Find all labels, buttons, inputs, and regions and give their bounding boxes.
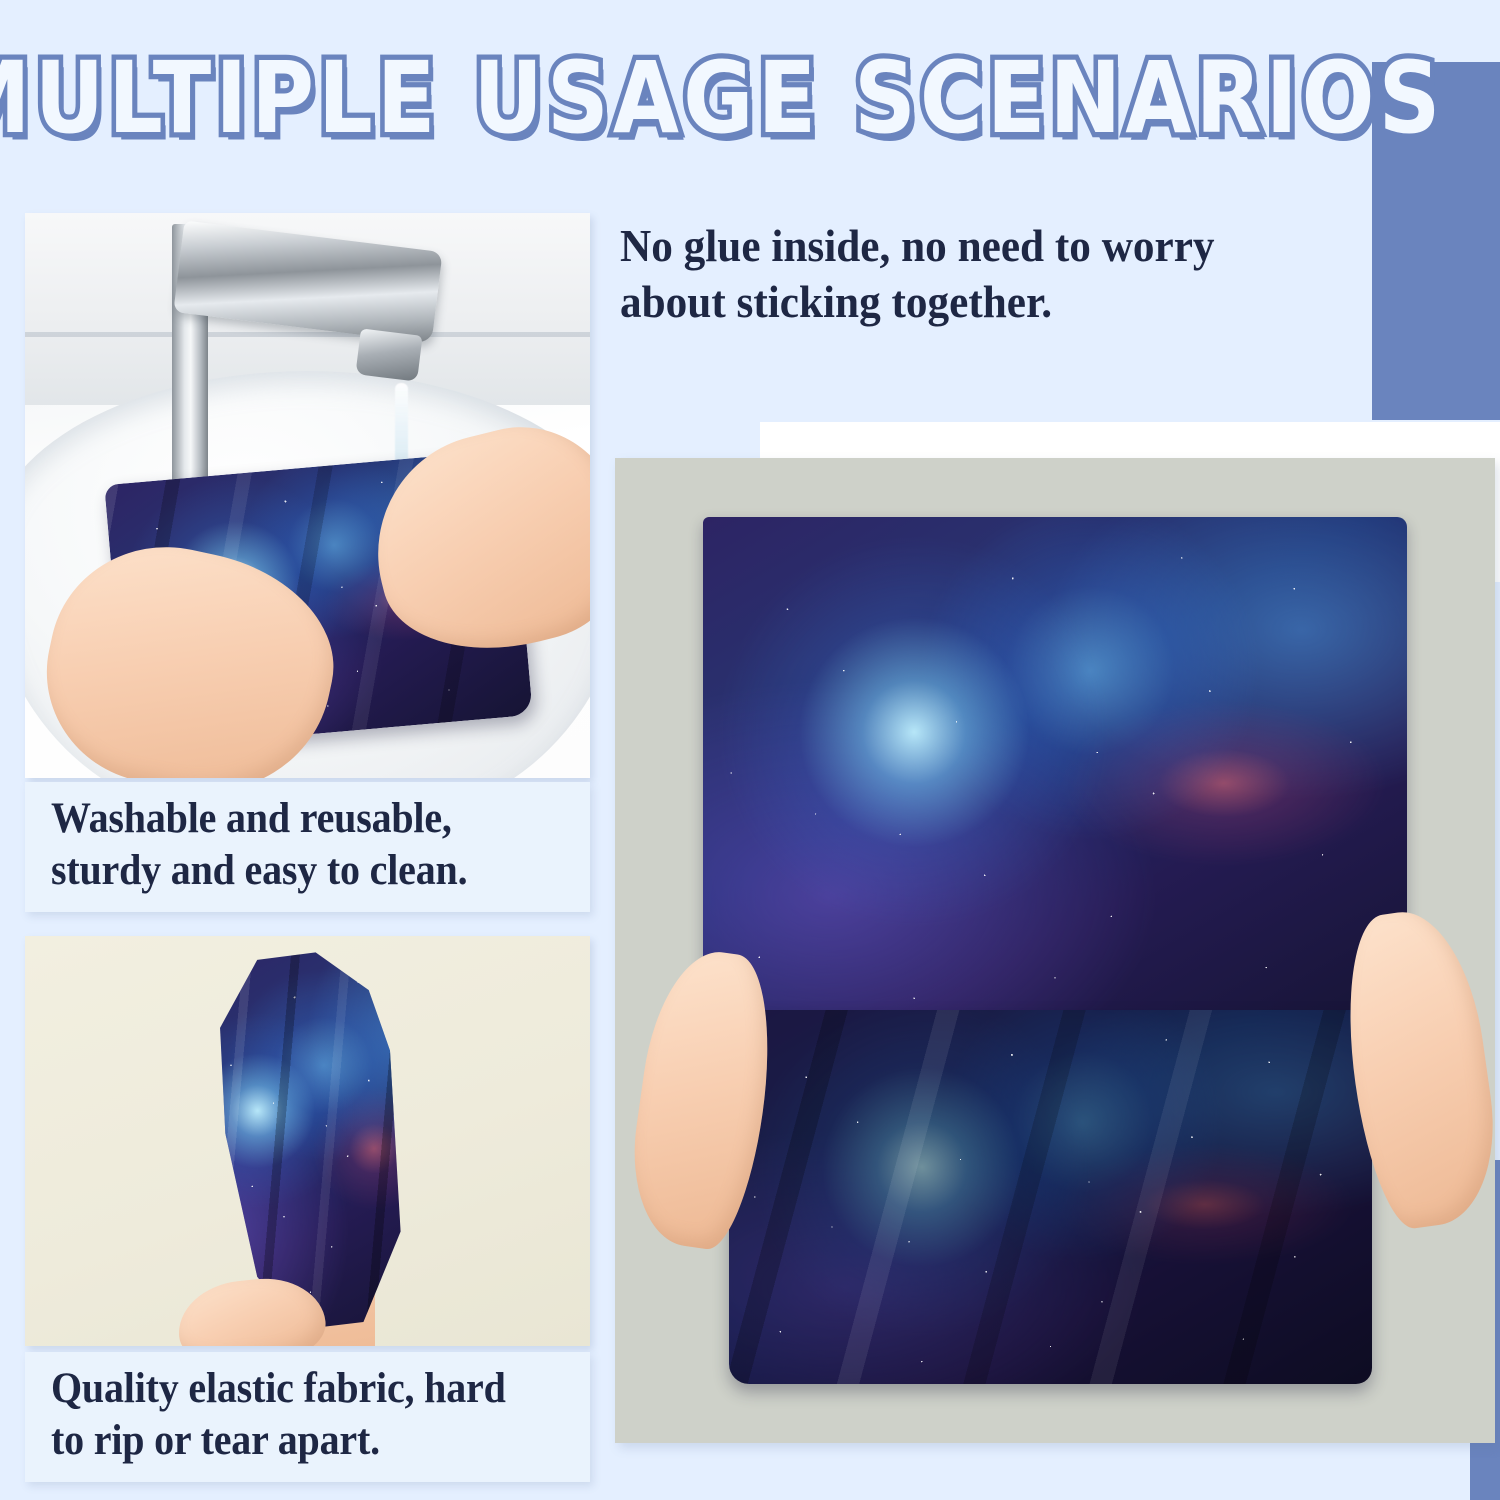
photo-washing-in-sink <box>25 213 590 778</box>
feature-no-glue: No glue inside, no need to worry about s… <box>620 218 1365 330</box>
faucet-tip <box>356 328 423 381</box>
galaxy-cover-lower <box>729 1010 1371 1384</box>
caption-elastic: Quality elastic fabric, hard to rip or t… <box>25 1352 590 1482</box>
fabric-folds <box>729 1010 1371 1384</box>
headline-container: MULTIPLE USAGE SCENARIOS <box>0 38 1390 158</box>
photo-stretch-test <box>25 936 590 1346</box>
caption-elastic-text: Quality elastic fabric, hard to rip or t… <box>51 1363 528 1466</box>
galaxy-cover-upper <box>703 517 1407 1029</box>
caption-washable: Washable and reusable, sturdy and easy t… <box>25 782 590 912</box>
feature-no-glue-text: No glue inside, no need to worry about s… <box>620 218 1320 330</box>
page-title: MULTIPLE USAGE SCENARIOS <box>0 40 1445 156</box>
stars-overlay <box>703 517 1407 1029</box>
caption-washable-text: Washable and reusable, sturdy and easy t… <box>51 793 528 896</box>
photo-cover-on-book <box>615 458 1495 1443</box>
